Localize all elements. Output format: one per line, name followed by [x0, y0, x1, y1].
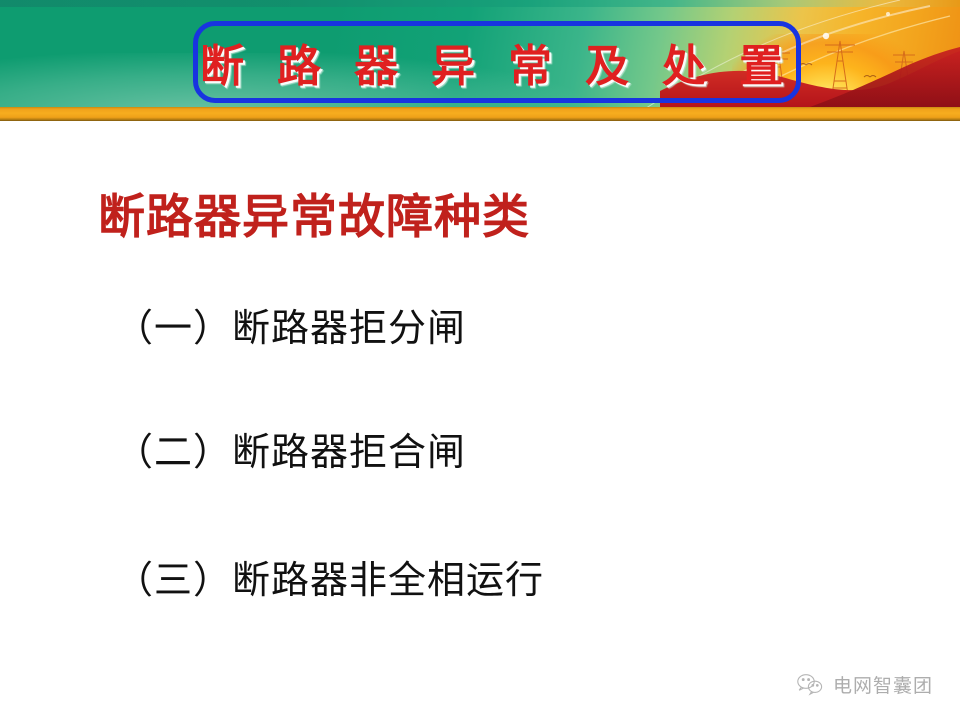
- wechat-logo-icon: [795, 672, 825, 697]
- section-heading: 断路器异常故障种类: [98, 178, 530, 247]
- banner-title-frame: 断 路 器 异 常 及 处 置: [193, 21, 801, 103]
- banner-top-strip: [0, 0, 960, 7]
- list-item: （三）断路器非全相运行: [115, 549, 544, 604]
- list-item: （二）断路器拒合闸: [115, 421, 466, 476]
- watermark: 电网智囊团: [795, 671, 933, 698]
- slide-header-banner: 断 路 器 异 常 及 处 置: [0, 0, 960, 121]
- list-item: （一）断路器拒分闸: [115, 297, 466, 352]
- slide-content-area: 断路器异常故障种类 （一）断路器拒分闸 （二）断路器拒合闸 （三）断路器非全相运…: [0, 121, 960, 720]
- watermark-text: 电网智囊团: [833, 671, 933, 698]
- banner-gold-bar: [0, 107, 960, 121]
- presentation-slide: 断 路 器 异 常 及 处 置 断路器异常故障种类 （一）断路器拒分闸 （二）断…: [0, 0, 960, 720]
- banner-title-text: 断 路 器 异 常 及 处 置: [198, 30, 796, 94]
